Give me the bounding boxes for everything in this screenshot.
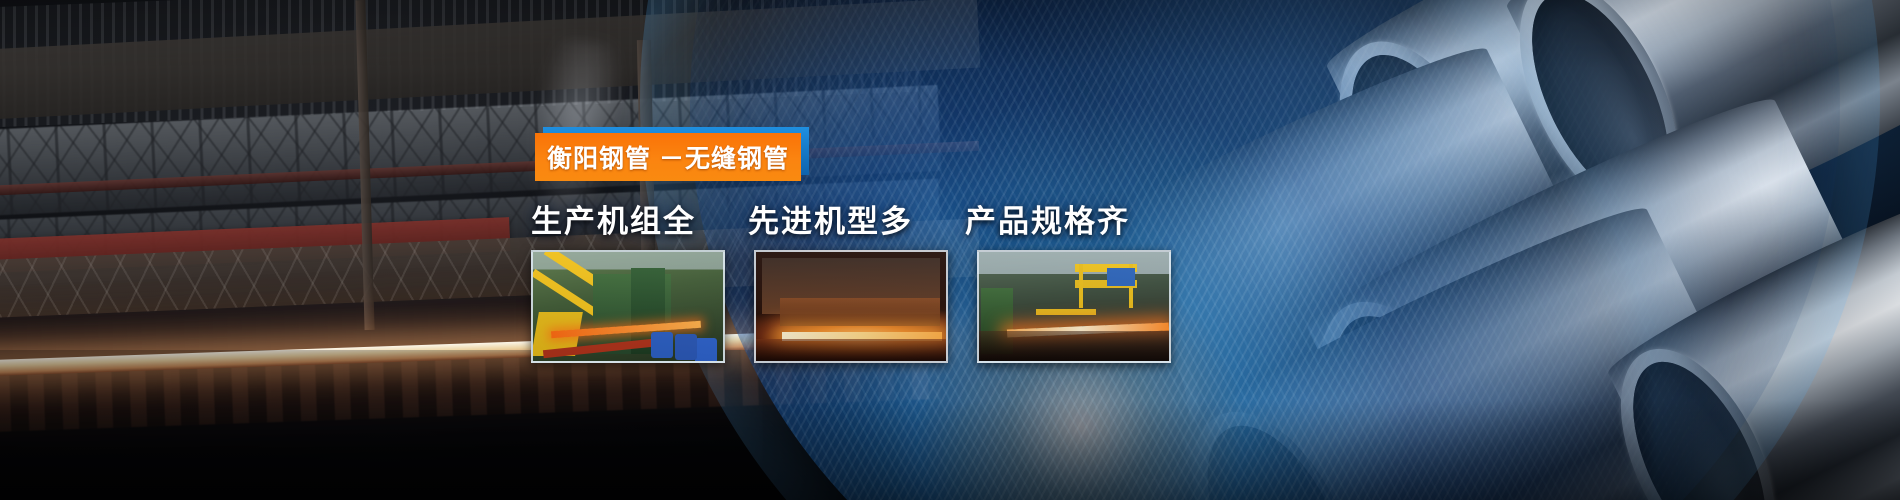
- thumbnail-row: [531, 250, 1171, 363]
- foreground-machinery: [979, 331, 1169, 361]
- thumbnail-mill-floor-hot-rod[interactable]: [977, 250, 1171, 363]
- thumbnail-rolling-mill-green-yellow[interactable]: [531, 250, 725, 363]
- tagline-item-2: 先进机型多: [748, 196, 913, 241]
- blue-motor-drum: [651, 332, 673, 358]
- headline-tab: 衡阳钢管 －无缝钢管: [535, 133, 801, 181]
- thumbnail-hot-rolling-glowing-steel[interactable]: [754, 250, 948, 363]
- headline-tab-label: 衡阳钢管 －无缝钢管: [547, 139, 789, 175]
- blue-equipment: [1107, 268, 1135, 286]
- tagline-item-1: 生产机组全: [531, 196, 696, 241]
- mill-housing-lower: [780, 298, 940, 326]
- yellow-posts: [1079, 264, 1083, 308]
- hero-banner: 衡阳钢管 －无缝钢管 生产机组全 先进机型多 产品规格齐: [0, 0, 1900, 500]
- mill-floor: [756, 339, 946, 361]
- tagline-row: 生产机组全 先进机型多 产品规格齐: [531, 196, 1130, 241]
- tagline-item-3: 产品规格齐: [965, 196, 1130, 241]
- headline-tab-orange-plate: 衡阳钢管 －无缝钢管: [535, 133, 801, 181]
